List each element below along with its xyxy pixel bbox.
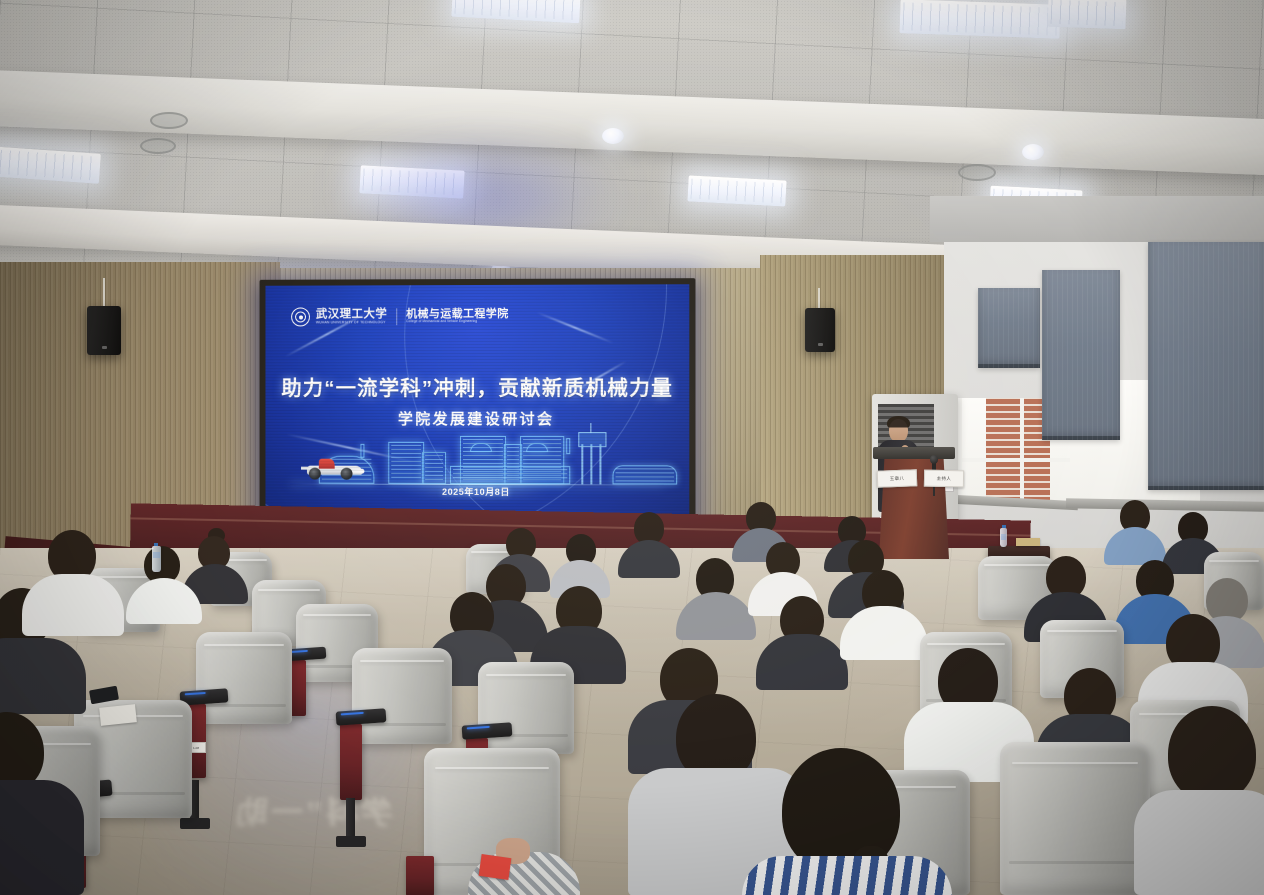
window-blind[interactable]	[978, 288, 1040, 368]
window-blind[interactable]	[1042, 270, 1120, 440]
speaker-cable	[818, 288, 820, 308]
window-blind[interactable]	[1148, 242, 1264, 490]
water-bottle	[152, 546, 161, 572]
slide-date: 2025年10月8日	[265, 484, 689, 498]
wall-speaker-left	[87, 306, 121, 355]
formula-race-car-graphic	[299, 452, 366, 482]
university-name-cn: 武汉理工大学	[316, 309, 387, 321]
slide-logo-lockup: 武汉理工大学 WUHAN UNIVERSITY OF TECHNOLOGY 机械…	[291, 307, 508, 327]
auditorium-seat[interactable]	[352, 648, 452, 744]
seat-foot	[180, 818, 210, 829]
skyline-long-building	[613, 465, 678, 484]
ceiling-downlight	[602, 128, 624, 144]
exterior-brick-facade	[986, 398, 1050, 502]
slide-title: 助力“一流学科”冲刺，贡献新质机械力量	[265, 371, 689, 401]
seat-side-panel	[340, 724, 362, 800]
skyline-tower	[578, 432, 604, 484]
college-name-en: College of Mechanical and Vehicle Engine…	[406, 320, 508, 324]
university-name-en: WUHAN UNIVERSITY OF TECHNOLOGY	[316, 320, 387, 325]
ceiling-vent	[958, 164, 996, 181]
table-item	[1016, 538, 1040, 546]
name-card-right: 主持人	[924, 470, 964, 488]
ceiling-panel-light	[899, 0, 1060, 39]
lectern-top	[873, 447, 955, 459]
presenter-head	[889, 419, 908, 442]
ceiling-panel-light	[687, 175, 786, 206]
skyline-dome	[526, 443, 548, 452]
screen-surface: 武汉理工大学 WUHAN UNIVERSITY OF TECHNOLOGY 机械…	[265, 284, 689, 517]
ceiling-vent	[140, 138, 176, 154]
auditorium-seat[interactable]	[478, 662, 574, 754]
auditorium-seat[interactable]	[196, 632, 292, 724]
name-card-left: 王章八	[877, 469, 918, 487]
window-mullion	[1020, 398, 1024, 502]
ceiling-panel-light	[1048, 0, 1127, 29]
water-bottle	[1000, 528, 1007, 547]
window-transom	[958, 458, 1070, 462]
skyline-dome	[470, 443, 492, 452]
held-item[interactable]	[479, 854, 512, 880]
wall-speaker-right	[805, 308, 835, 352]
auditorium-photo: 武汉理工大学 WUHAN UNIVERSITY OF TECHNOLOGY 机械…	[0, 0, 1264, 895]
ceiling-downlight	[1022, 144, 1044, 160]
auditorium-seat[interactable]	[1000, 742, 1150, 895]
handout-paper[interactable]	[99, 704, 137, 726]
ceiling-vent	[150, 112, 188, 129]
speaker-cable	[103, 278, 105, 306]
seat-side-panel	[406, 856, 434, 895]
skyline-antenna	[566, 438, 570, 454]
logo-divider	[396, 308, 397, 325]
window-soffit	[930, 196, 1264, 242]
seat-leg	[346, 798, 355, 840]
university-seal-icon	[291, 307, 310, 326]
led-presentation-screen[interactable]: 武汉理工大学 WUHAN UNIVERSITY OF TECHNOLOGY 机械…	[260, 278, 696, 524]
seat-foot	[336, 836, 366, 847]
